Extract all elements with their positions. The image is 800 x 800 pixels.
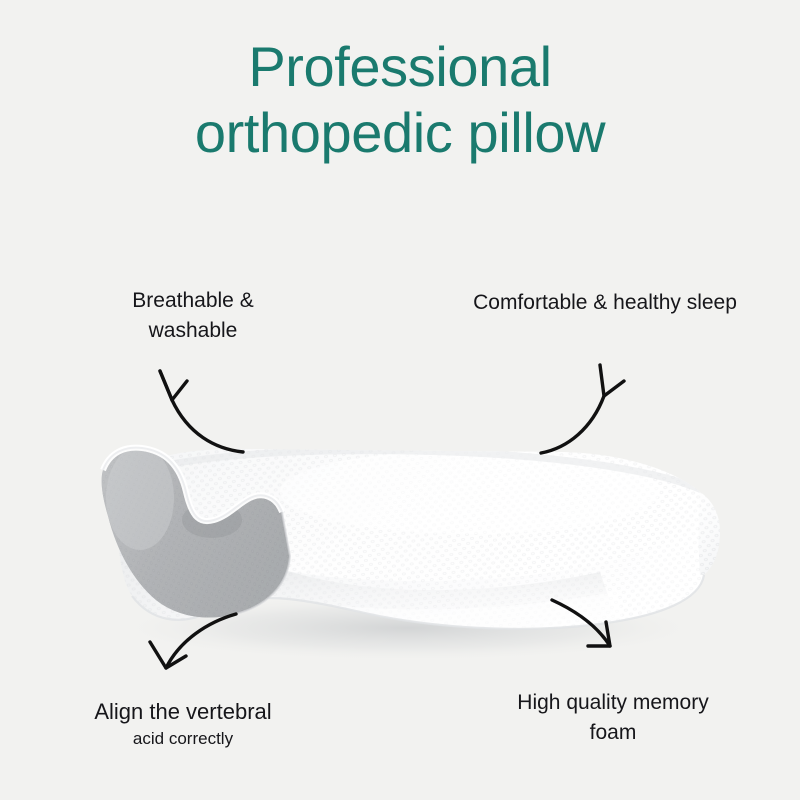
callout-align-line-1: Align the vertebral <box>28 696 338 727</box>
callout-breathable-line-1: Breathable & <box>48 286 338 316</box>
arrow-foam <box>552 600 610 646</box>
callout-label-align: Align the vertebral acid correctly <box>28 696 338 751</box>
pillow-left-end-profile <box>95 440 305 630</box>
pillow-right-end <box>690 480 736 588</box>
callout-foam-line-2: foam <box>448 718 778 748</box>
arrow-breathable <box>160 371 243 452</box>
pillow-seam <box>236 512 290 614</box>
callout-comfortable-line-1: Comfortable & healthy sleep <box>440 288 770 318</box>
arrow-comfortable <box>541 365 624 453</box>
product-infographic: Professional orthopedic pillow <box>0 0 800 800</box>
page-title-line-1: Professional <box>0 34 800 100</box>
pillow-ground-shadow <box>108 594 708 662</box>
page-title: Professional orthopedic pillow <box>0 34 800 166</box>
callout-label-comfortable: Comfortable & healthy sleep <box>440 288 770 318</box>
callout-align-line-2: acid correctly <box>28 727 338 751</box>
arrow-align <box>150 614 236 668</box>
callout-breathable-line-2: washable <box>48 316 338 346</box>
page-title-line-2: orthopedic pillow <box>0 100 800 166</box>
callout-foam-line-1: High quality memory <box>448 688 778 718</box>
pillow-front-face <box>100 460 720 650</box>
callout-label-breathable: Breathable & washable <box>48 286 338 346</box>
callout-label-foam: High quality memory foam <box>448 688 778 748</box>
pillow-top-surface <box>100 430 720 600</box>
